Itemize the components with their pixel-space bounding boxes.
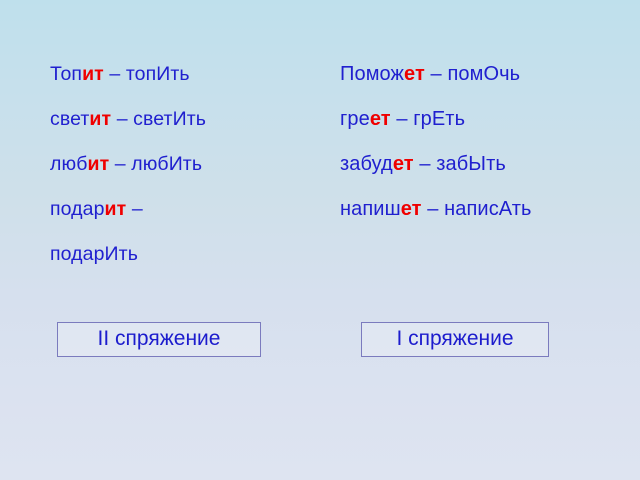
right-word-column: Поможет – помОчь греет – грЕть забудет –… — [295, 52, 640, 232]
word-columns: Топит – топИть светит – светИть любит – … — [0, 52, 640, 277]
verb-stem: напиш — [340, 198, 401, 220]
verb-stem: свет — [50, 108, 89, 130]
verb-ending-highlight: ит — [87, 153, 109, 175]
infinitive-form: светИть — [133, 108, 206, 130]
dash-separator: – — [391, 108, 414, 130]
word-line: напишет – написАть — [340, 187, 640, 232]
word-line: подарит – — [50, 187, 295, 232]
dash-separator: – — [104, 63, 126, 85]
infinitive-form: подарИть — [50, 243, 138, 265]
conjugation-boxes: II спряжение I спряжение — [0, 322, 640, 362]
verb-ending-highlight: ит — [105, 198, 127, 220]
infinitive-form: грЕть — [413, 108, 465, 130]
dash-separator: – — [422, 198, 445, 220]
verb-ending-highlight: ет — [393, 153, 414, 175]
slide-canvas: Топит – топИть светит – светИть любит – … — [0, 0, 640, 480]
verb-stem: люб — [50, 153, 87, 175]
verb-stem: забуд — [340, 153, 393, 175]
verb-stem: Помож — [340, 63, 404, 85]
infinitive-form: любИть — [131, 153, 202, 175]
word-line: забудет – забЫть — [340, 142, 640, 187]
verb-ending-highlight: ит — [82, 63, 104, 85]
verb-ending-highlight: ет — [404, 63, 425, 85]
word-line: любит – любИть — [50, 142, 295, 187]
word-line: Поможет – помОчь — [340, 52, 640, 97]
dash-separator: – — [109, 153, 131, 175]
infinitive-form: написАть — [444, 198, 531, 220]
verb-ending-highlight: ет — [401, 198, 422, 220]
word-line: Топит – топИть — [50, 52, 295, 97]
word-line: светит – светИть — [50, 97, 295, 142]
first-conjugation-box: I спряжение — [361, 322, 549, 357]
word-line-wrapped: подарИть — [50, 232, 295, 277]
dash-separator: – — [126, 198, 142, 220]
left-word-column: Топит – топИть светит – светИть любит – … — [0, 52, 295, 277]
word-line: греет – грЕть — [340, 97, 640, 142]
second-conjugation-box: II спряжение — [57, 322, 261, 357]
verb-stem: гре — [340, 108, 370, 130]
verb-stem: подар — [50, 198, 105, 220]
infinitive-form: топИть — [126, 63, 190, 85]
verb-stem: Топ — [50, 63, 82, 85]
dash-separator: – — [414, 153, 437, 175]
verb-ending-highlight: ет — [370, 108, 391, 130]
dash-separator: – — [425, 63, 448, 85]
infinitive-form: помОчь — [447, 63, 520, 85]
verb-ending-highlight: ит — [89, 108, 111, 130]
dash-separator: – — [111, 108, 133, 130]
infinitive-form: забЫть — [436, 153, 506, 175]
